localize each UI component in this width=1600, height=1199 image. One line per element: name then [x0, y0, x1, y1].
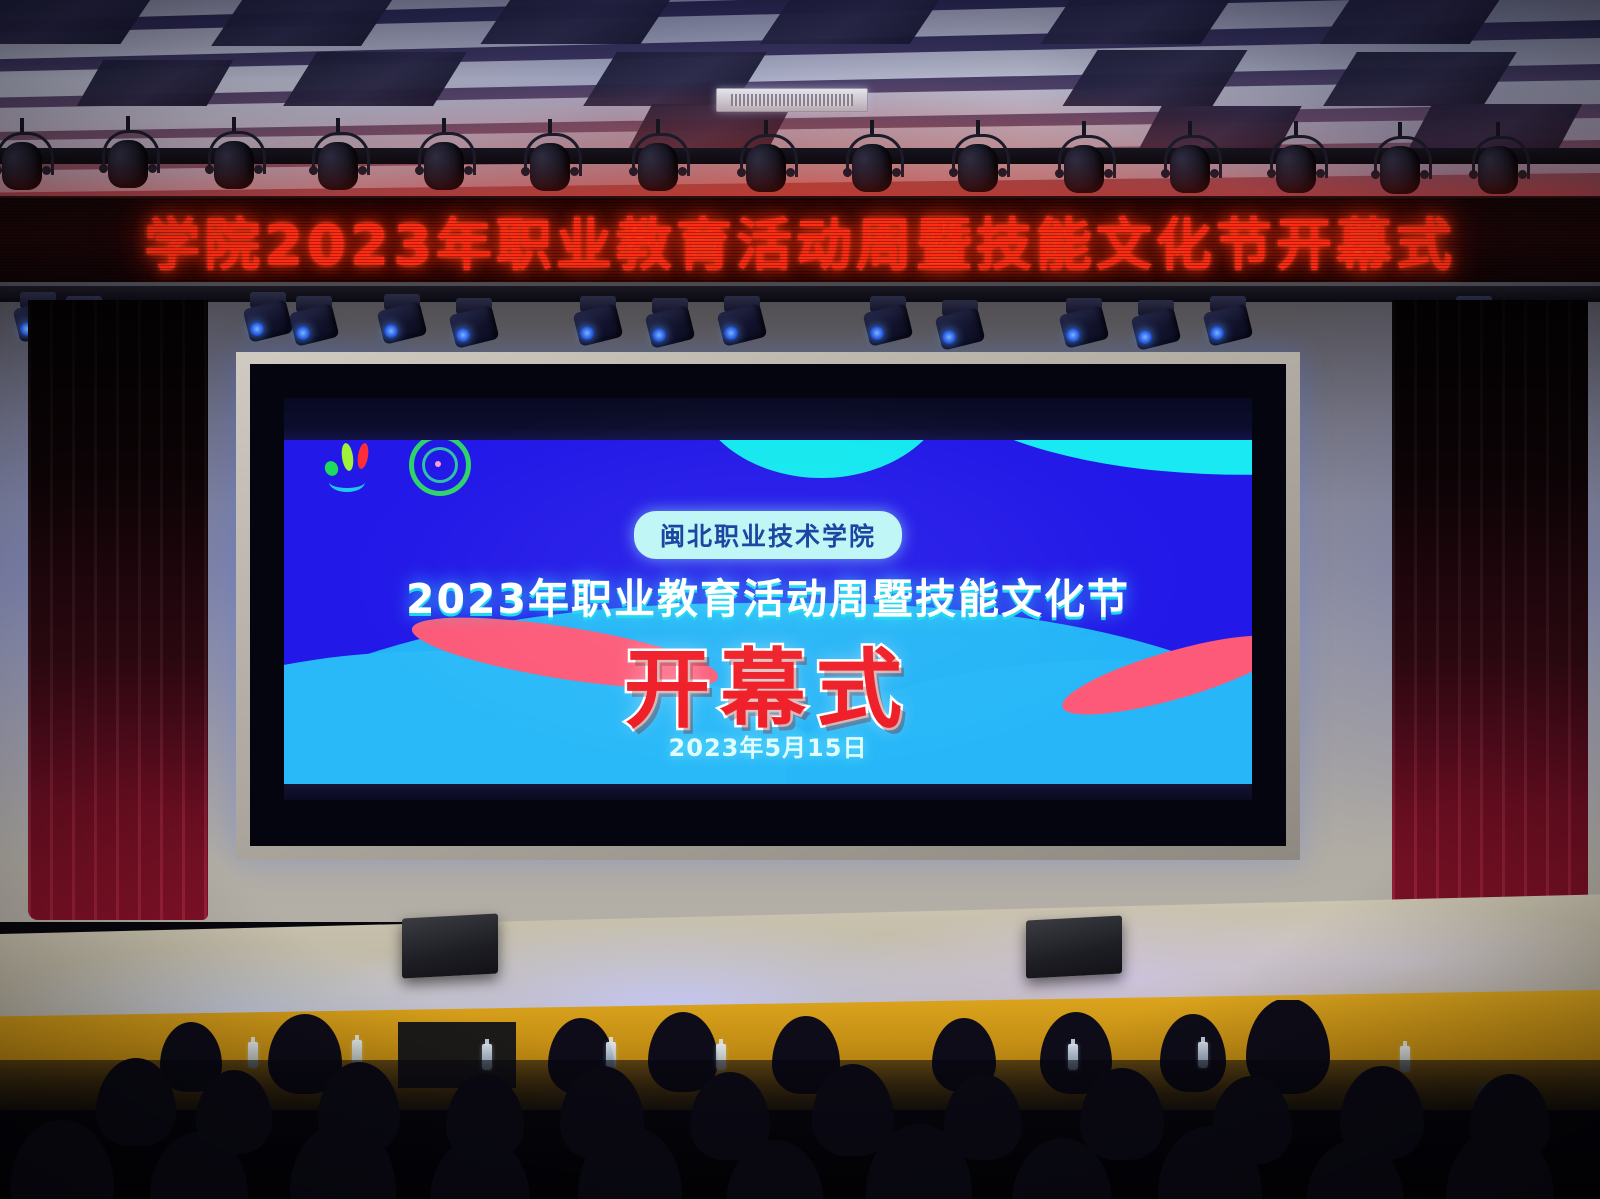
stage-curtain-left: [28, 300, 208, 920]
screen-bottom-band: [284, 784, 1252, 800]
event-date: 2023年5月15日: [669, 728, 868, 763]
led-screen-display: 闽北职业技术学院 2023年职业教育活动周暨技能文化节 开幕式 2023年5月1…: [284, 398, 1252, 800]
lighting-truss-lower: [0, 286, 1600, 302]
stage-curtain-right: [1392, 300, 1588, 920]
event-main-title: 开幕式: [624, 619, 912, 744]
college-name-badge: 闽北职业技术学院: [634, 511, 902, 559]
green-ring-logo-icon: [409, 434, 471, 496]
event-subtitle: 2023年职业教育活动周暨技能文化节: [406, 565, 1130, 625]
screen-logo-row: [325, 434, 471, 496]
hvac-diffuser-icon: [716, 88, 868, 112]
brush-mark-logo-icon: [325, 441, 379, 489]
stage-monitor-speaker-right: [1026, 915, 1122, 978]
led-banner-text: 学院2023年职业教育活动周暨技能文化节开幕式: [0, 201, 1600, 282]
stage-monitor-speaker-left: [402, 913, 498, 978]
led-screen-bezel: 闽北职业技术学院 2023年职业教育活动周暨技能文化节 开幕式 2023年5月1…: [250, 364, 1286, 846]
auditorium-stage-photo: 学院2023年职业教育活动周暨技能文化节开幕式: [0, 0, 1600, 1199]
audience-seating: [0, 1000, 1600, 1199]
led-screen-frame: 闽北职业技术学院 2023年职业教育活动周暨技能文化节 开幕式 2023年5月1…: [236, 352, 1300, 860]
screen-top-band: [284, 398, 1252, 440]
led-marquee-banner: 学院2023年职业教育活动周暨技能文化节开幕式: [0, 196, 1600, 286]
